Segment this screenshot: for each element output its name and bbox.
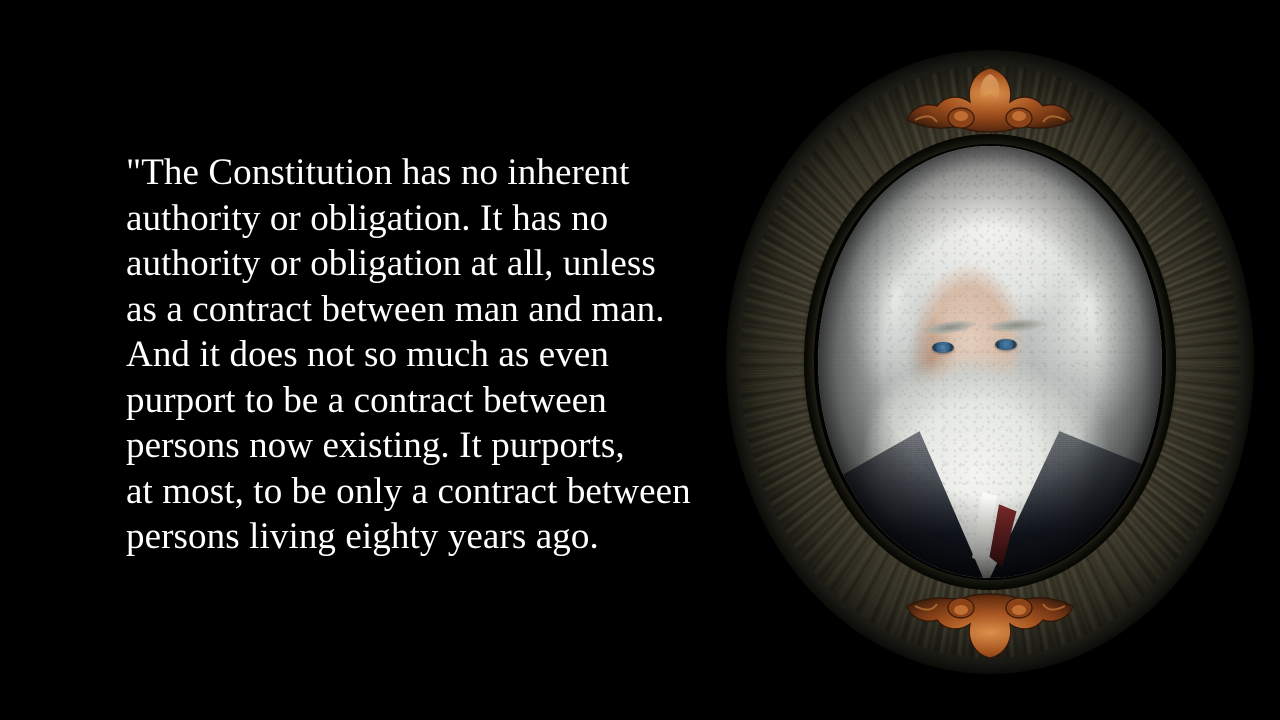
quote-line-7: persons now existing. It purports, [126,423,756,469]
quote-line-1: "The Constitution has no inherent [126,150,756,196]
photo-vignette [818,146,1162,578]
frame-crest-bottom-ornament [875,582,1105,668]
quote-line-6: purport to be a contract between [126,378,756,424]
portrait-photograph [818,146,1162,578]
quote-line-9: persons living eighty years ago. [126,514,756,560]
framed-portrait [726,50,1254,674]
quote-text-block: "The Constitution has no inherent author… [126,150,756,560]
quote-line-5: And it does not so much as even [126,332,756,378]
quote-card-canvas: "The Constitution has no inherent author… [0,0,1280,720]
quote-line-8: at most, to be only a contract between [126,469,756,515]
quote-line-4: as a contract between man and man. [126,287,756,333]
quote-line-3: authority or obligation at all, unless [126,241,756,287]
quote-line-2: authority or obligation. It has no [126,196,756,242]
frame-crest-top-ornament [875,58,1105,144]
